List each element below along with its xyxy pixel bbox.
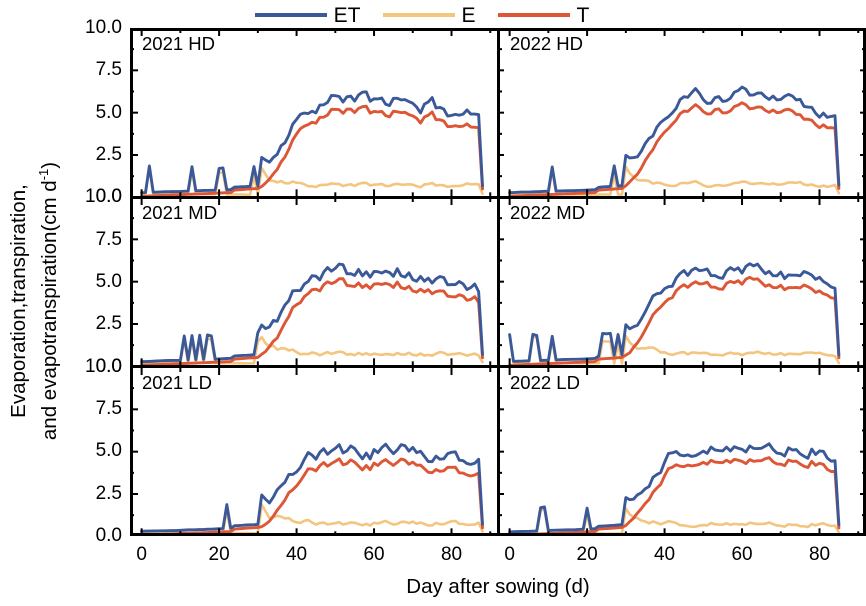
chart-legend: ET E T [0,0,866,30]
y-axis-title-exponent: -1 [36,169,51,181]
series-line-et [142,92,483,193]
y-tick-label: 7.5 [52,230,122,249]
chart-figure: ET E T Evaporation,transpiration, and ev… [0,0,866,606]
series-line-t [510,278,839,366]
y-axis-title-line1: Evaporation,transpiration, [6,184,31,418]
legend-swatch-et [255,13,327,17]
y-tick-label: 2.5 [52,484,122,503]
panel-grid: 2021 HD2022 HD2021 MD2022 MD2021 LD2022 … [130,28,866,536]
y-tick-label: 10.0 [52,18,122,37]
x-tick-label: 40 [267,545,327,564]
legend-item-et: ET [255,5,383,26]
x-tick-label: 40 [635,545,695,564]
legend-label-et: ET [334,5,361,26]
legend-swatch-t [498,13,570,17]
y-tick-label: 5.0 [52,441,122,460]
panel-divider-col [497,28,500,536]
panel-2022-hd: 2022 HD [498,28,866,197]
x-tick-label: 0 [112,545,172,564]
x-axis-title: Day after sowing (d) [130,572,866,602]
y-tick-label: 5.0 [52,103,122,122]
y-tick-label: 2.5 [52,145,122,164]
legend-swatch-e [383,13,455,17]
series-line-et [142,264,483,362]
axis-line-left [130,28,133,536]
y-tick-label: 7.5 [52,60,122,79]
panel-2021-ld: 2021 LD [130,367,498,536]
panel-2022-md: 2022 MD [498,197,866,366]
x-tick-label: 0 [480,545,540,564]
series-line-et [510,443,839,531]
series-line-et [142,444,483,531]
y-tick-label: 0.0 [52,526,122,545]
legend-item-t: T [498,5,612,26]
x-tick-label: 60 [712,545,772,564]
y-tick-label: 5.0 [52,272,122,291]
y-tick-label: 2.5 [52,314,122,333]
y-tick-label: 7.5 [52,399,122,418]
x-tick-label: 20 [189,545,249,564]
x-tick-label: 80 [790,545,850,564]
x-tick-label: 20 [557,545,617,564]
legend-item-e: E [383,5,498,26]
legend-label-e: E [462,5,476,26]
x-tick-label: 80 [422,545,482,564]
series-line-et [510,264,839,362]
panel-2021-hd: 2021 HD [130,28,498,197]
y-tick-label: 10.0 [52,187,122,206]
y-tick-label: 10.0 [52,357,122,376]
x-tick-label: 60 [344,545,404,564]
legend-label-t: T [577,5,590,26]
panel-2022-ld: 2022 LD [498,367,866,536]
series-line-et [510,87,839,193]
panel-2021-md: 2021 MD [130,197,498,366]
